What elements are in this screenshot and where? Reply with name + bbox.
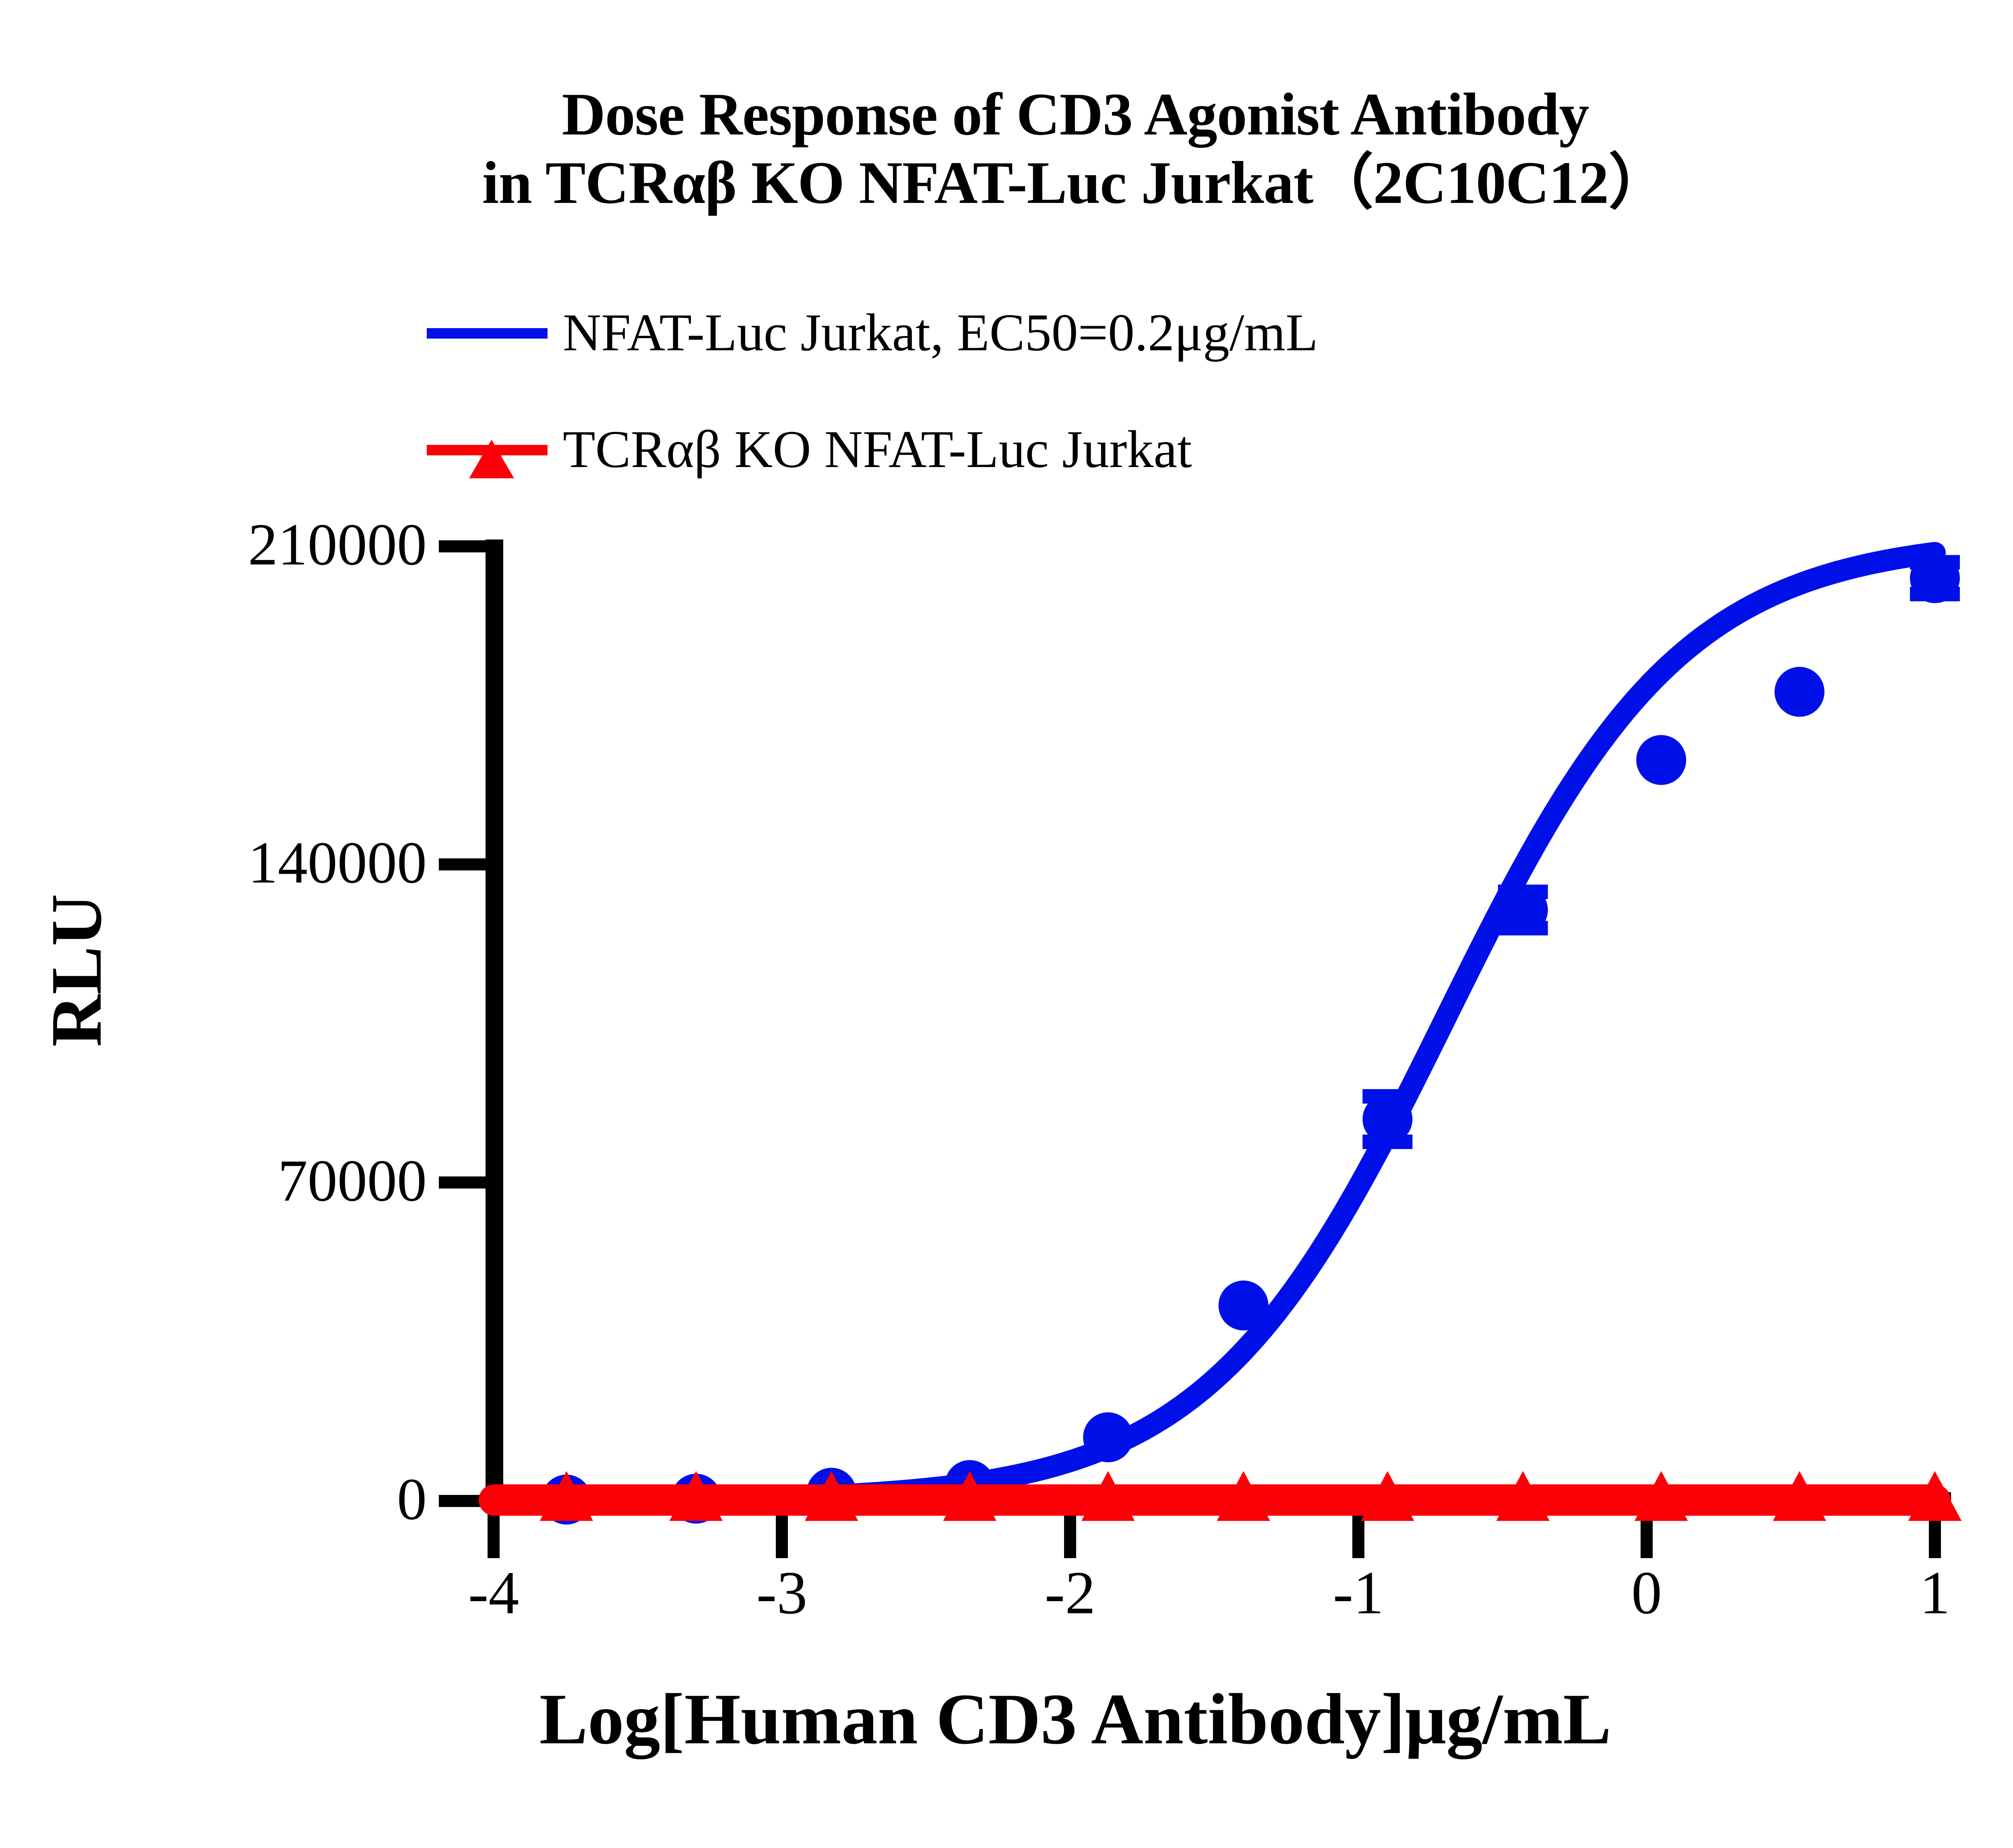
fit-curve [494, 553, 1935, 1501]
y-tick-label-3: 210000 [81, 515, 427, 575]
plot-data-layer [0, 0, 2013, 1848]
x-tick-mark-2 [1064, 1510, 1076, 1558]
x-axis-line [486, 1492, 1951, 1510]
chart-title-line-2: in TCRαβ KO NFAT-Luc Jurkat（2C10C12） [0, 149, 2013, 217]
data-point-marker [1219, 1281, 1269, 1331]
y-axis-title: RLU [40, 850, 113, 1091]
x-tick-mark-1 [776, 1510, 788, 1558]
x-tick-mark-5 [1929, 1510, 1941, 1558]
data-point-marker [1083, 1412, 1133, 1462]
x-tick-label-1: -3 [721, 1562, 842, 1623]
y-axis-line [486, 540, 503, 1510]
x-tick-mark-3 [1352, 1510, 1364, 1558]
y-tick-mark-3 [439, 540, 486, 552]
y-tick-label-2: 140000 [81, 833, 427, 893]
chart-title-line-1: Dose Response of CD3 Agonist Antibody [0, 81, 2013, 148]
data-point-marker [1636, 735, 1686, 785]
series-nfat-luc-jurkat [494, 553, 1960, 1525]
x-axis-title: Log[Human CD3 Antibody]μg/mL [0, 1679, 2013, 1759]
data-point-marker [1362, 1094, 1412, 1144]
legend-marker-circle-blue [427, 310, 548, 355]
y-tick-label-1: 70000 [81, 1151, 427, 1211]
legend-label-0: NFAT-Luc Jurkat, EC50=0.2μg/mL [563, 306, 1318, 359]
x-tick-label-0: -4 [433, 1562, 554, 1623]
data-point-marker [1775, 667, 1825, 717]
data-point-marker [1910, 553, 1960, 603]
x-tick-label-5: 1 [1875, 1562, 1995, 1623]
y-tick-mark-2 [439, 858, 486, 870]
y-tick-mark-1 [439, 1176, 486, 1189]
x-tick-label-3: -1 [1298, 1562, 1419, 1623]
y-tick-mark-0 [439, 1495, 486, 1507]
x-tick-label-4: 0 [1586, 1562, 1707, 1623]
legend-marker-triangle-red [427, 427, 548, 471]
y-tick-label-0: 0 [81, 1470, 427, 1529]
data-point-marker [1498, 885, 1548, 935]
legend-entry-1: TCRαβ KO NFAT-Luc Jurkat [427, 423, 1192, 476]
x-tick-label-2: -2 [1010, 1562, 1131, 1623]
figure-root: Dose Response of CD3 Agonist Antibody in… [0, 0, 2013, 1848]
x-tick-mark-0 [488, 1510, 500, 1558]
legend-entry-0: NFAT-Luc Jurkat, EC50=0.2μg/mL [427, 306, 1318, 359]
x-tick-mark-4 [1641, 1510, 1653, 1558]
legend-label-1: TCRαβ KO NFAT-Luc Jurkat [563, 423, 1192, 476]
